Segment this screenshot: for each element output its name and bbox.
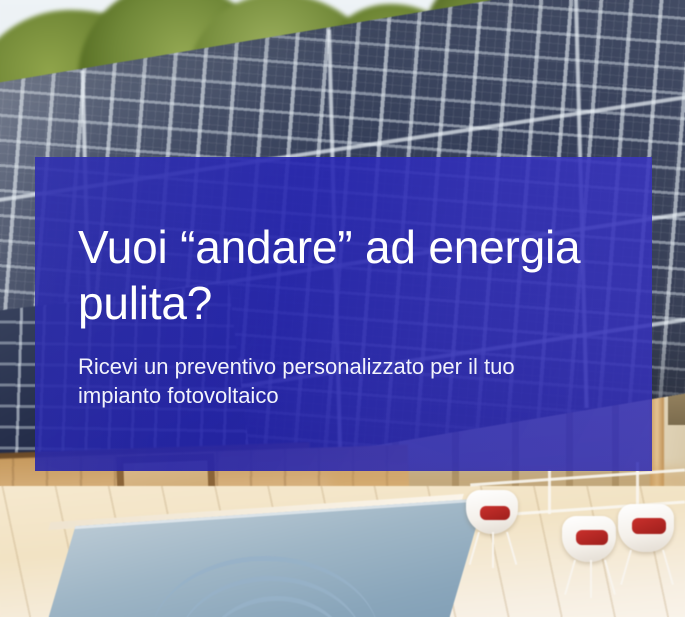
hero-overlay-card: Vuoi “andare” ad energia pulita? Ricevi … bbox=[35, 157, 652, 471]
chair-cushion bbox=[576, 530, 608, 545]
hero-title: Vuoi “andare” ad energia pulita? bbox=[78, 219, 604, 331]
chair-leg bbox=[492, 532, 494, 568]
hero-subtitle: Ricevi un preventivo personalizzato per … bbox=[78, 353, 598, 410]
railing-post bbox=[548, 470, 551, 514]
chair-cushion bbox=[632, 518, 666, 534]
chair-leg bbox=[590, 560, 592, 598]
hero-banner: Vuoi “andare” ad energia pulita? Ricevi … bbox=[0, 0, 685, 617]
chair-cushion bbox=[480, 506, 510, 520]
